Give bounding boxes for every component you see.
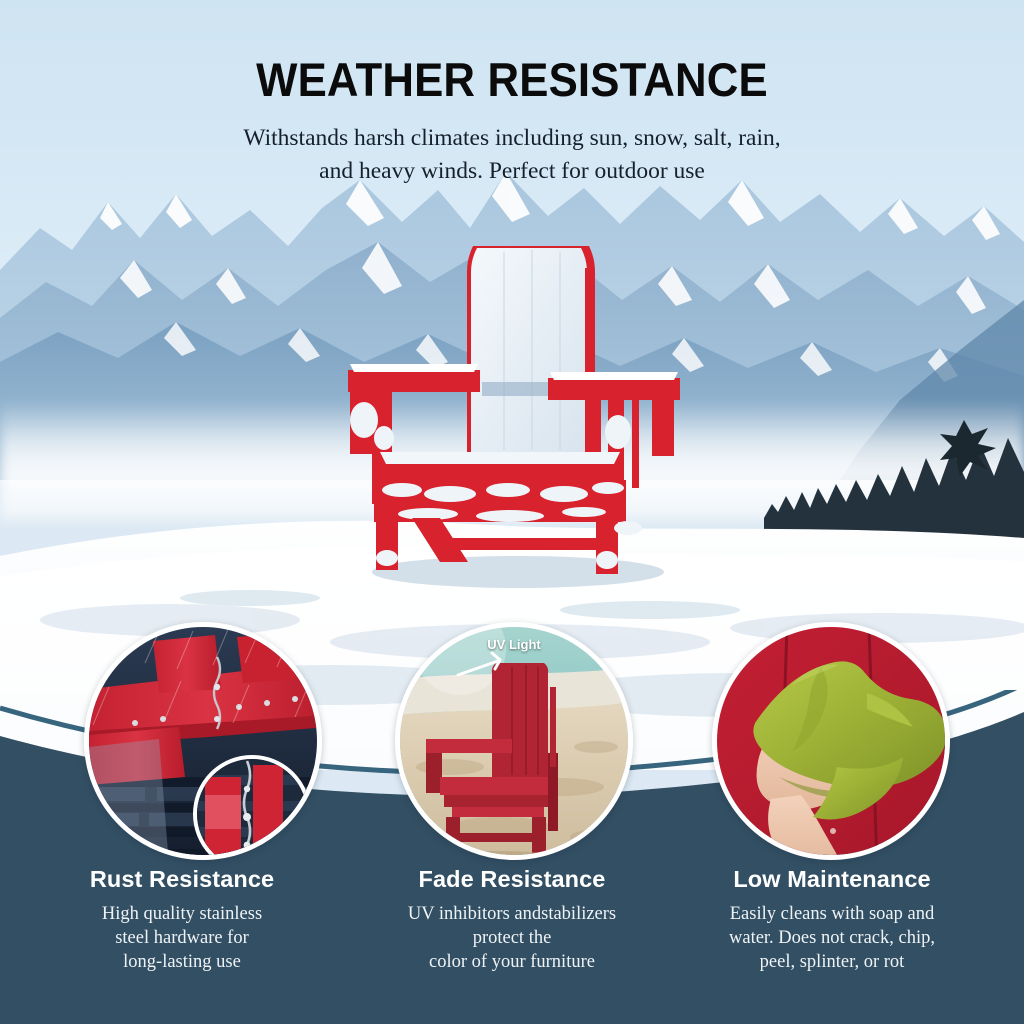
feature-image-circles: UV Light bbox=[0, 618, 1024, 868]
subtitle-line-2: and heavy winds. Perfect for outdoor use bbox=[0, 155, 1024, 188]
feature-desc-line-2: protect the bbox=[352, 926, 672, 950]
feature-text-rust-resistance: Rust Resistance High quality stainless s… bbox=[22, 866, 342, 974]
feature-desc-line-1: Easily cleans with soap and bbox=[672, 902, 992, 926]
feature-description: UV inhibitors andstabilizers protect the… bbox=[352, 902, 672, 974]
feature-circle-rust-resistance[interactable] bbox=[84, 622, 322, 860]
feature-circle-low-maintenance[interactable] bbox=[712, 622, 950, 860]
feature-text-group: Rust Resistance High quality stainless s… bbox=[0, 866, 1024, 996]
infographic-canvas: UV Light bbox=[0, 0, 1024, 1024]
feature-desc-line-3: long-lasting use bbox=[22, 950, 342, 974]
feature-text-low-maintenance: Low Maintenance Easily cleans with soap … bbox=[672, 866, 992, 974]
feature-title: Fade Resistance bbox=[352, 866, 672, 893]
feature-desc-line-3: color of your furniture bbox=[352, 950, 672, 974]
page-title: WEATHER RESISTANCE bbox=[36, 52, 988, 107]
feature-desc-line-2: steel hardware for bbox=[22, 926, 342, 950]
uv-light-label: UV Light bbox=[487, 637, 540, 652]
feature-desc-line-1: High quality stainless bbox=[22, 902, 342, 926]
feature-circle-fade-resistance[interactable]: UV Light bbox=[395, 622, 633, 860]
page-subtitle: Withstands harsh climates including sun,… bbox=[0, 122, 1024, 188]
feature-desc-line-2: water. Does not crack, chip, bbox=[672, 926, 992, 950]
feature-title: Low Maintenance bbox=[672, 866, 992, 893]
feature-title: Rust Resistance bbox=[22, 866, 342, 893]
feature-description: High quality stainless steel hardware fo… bbox=[22, 902, 342, 974]
feature-desc-line-3: peel, splinter, or rot bbox=[672, 950, 992, 974]
feature-description: Easily cleans with soap and water. Does … bbox=[672, 902, 992, 974]
subtitle-line-1: Withstands harsh climates including sun,… bbox=[0, 122, 1024, 155]
hero-product-snow-covered-chair bbox=[332, 228, 692, 588]
feature-desc-line-1: UV inhibitors andstabilizers bbox=[352, 902, 672, 926]
feature-text-fade-resistance: Fade Resistance UV inhibitors andstabili… bbox=[352, 866, 672, 974]
